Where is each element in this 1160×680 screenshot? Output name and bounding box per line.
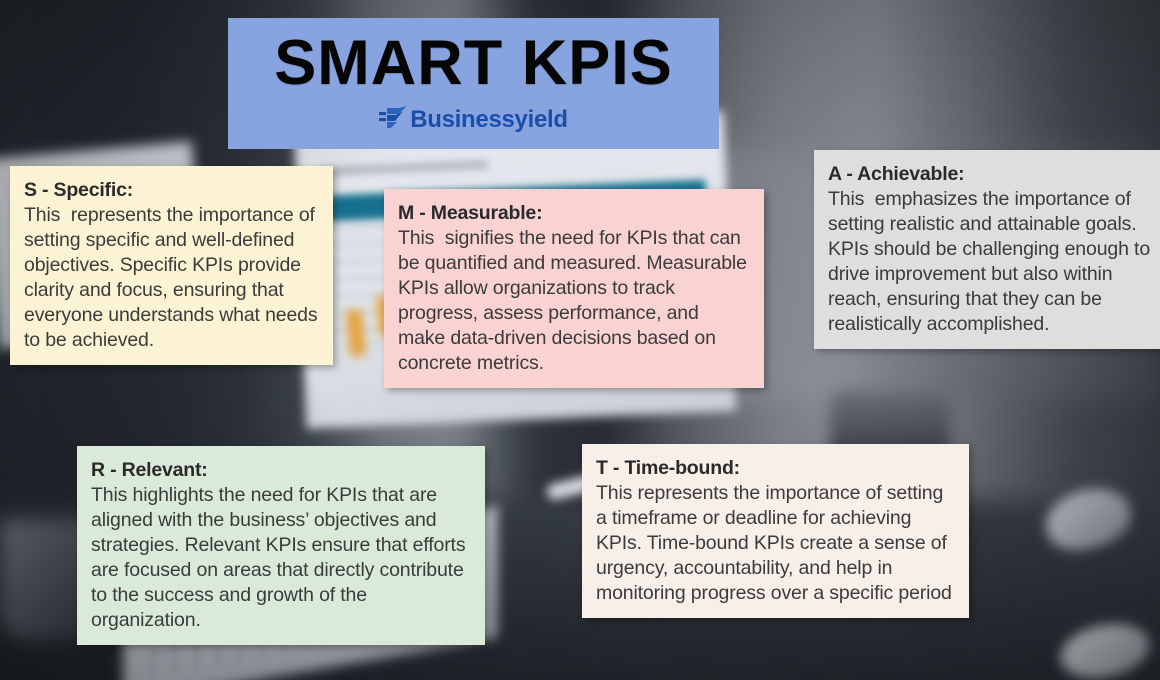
card-relevant-body: This highlights the need for KPIs that a… — [91, 483, 471, 633]
card-specific-heading: S - Specific: — [24, 179, 319, 202]
card-achievable: A - Achievable: This emphasizes the impo… — [814, 150, 1160, 349]
card-achievable-heading: A - Achievable: — [828, 163, 1152, 186]
infographic-canvas: SMART KPIS Businessyield S - Specific: T… — [0, 0, 1160, 680]
card-relevant-heading: R - Relevant: — [91, 459, 471, 482]
brand-logo: Businessyield — [379, 105, 568, 134]
card-specific: S - Specific: This represents the import… — [10, 166, 333, 365]
card-measurable-heading: M - Measurable: — [398, 202, 750, 225]
card-specific-body: This represents the importance of settin… — [24, 203, 319, 353]
businessyield-arrow-logo-icon — [379, 105, 409, 134]
card-timebound: T - Time-bound: This represents the impo… — [582, 444, 969, 618]
title-banner: SMART KPIS Businessyield — [228, 18, 719, 149]
card-timebound-body: This represents the importance of settin… — [596, 481, 955, 606]
card-timebound-heading: T - Time-bound: — [596, 457, 955, 480]
card-measurable: M - Measurable: This signifies the need … — [384, 189, 764, 388]
card-achievable-body: This emphasizes the importance of settin… — [828, 187, 1152, 337]
card-relevant: R - Relevant: This highlights the need f… — [77, 446, 485, 645]
card-measurable-body: This signifies the need for KPIs that ca… — [398, 226, 750, 376]
brand-logo-text: Businessyield — [410, 108, 568, 132]
page-title: SMART KPIS — [274, 30, 673, 96]
